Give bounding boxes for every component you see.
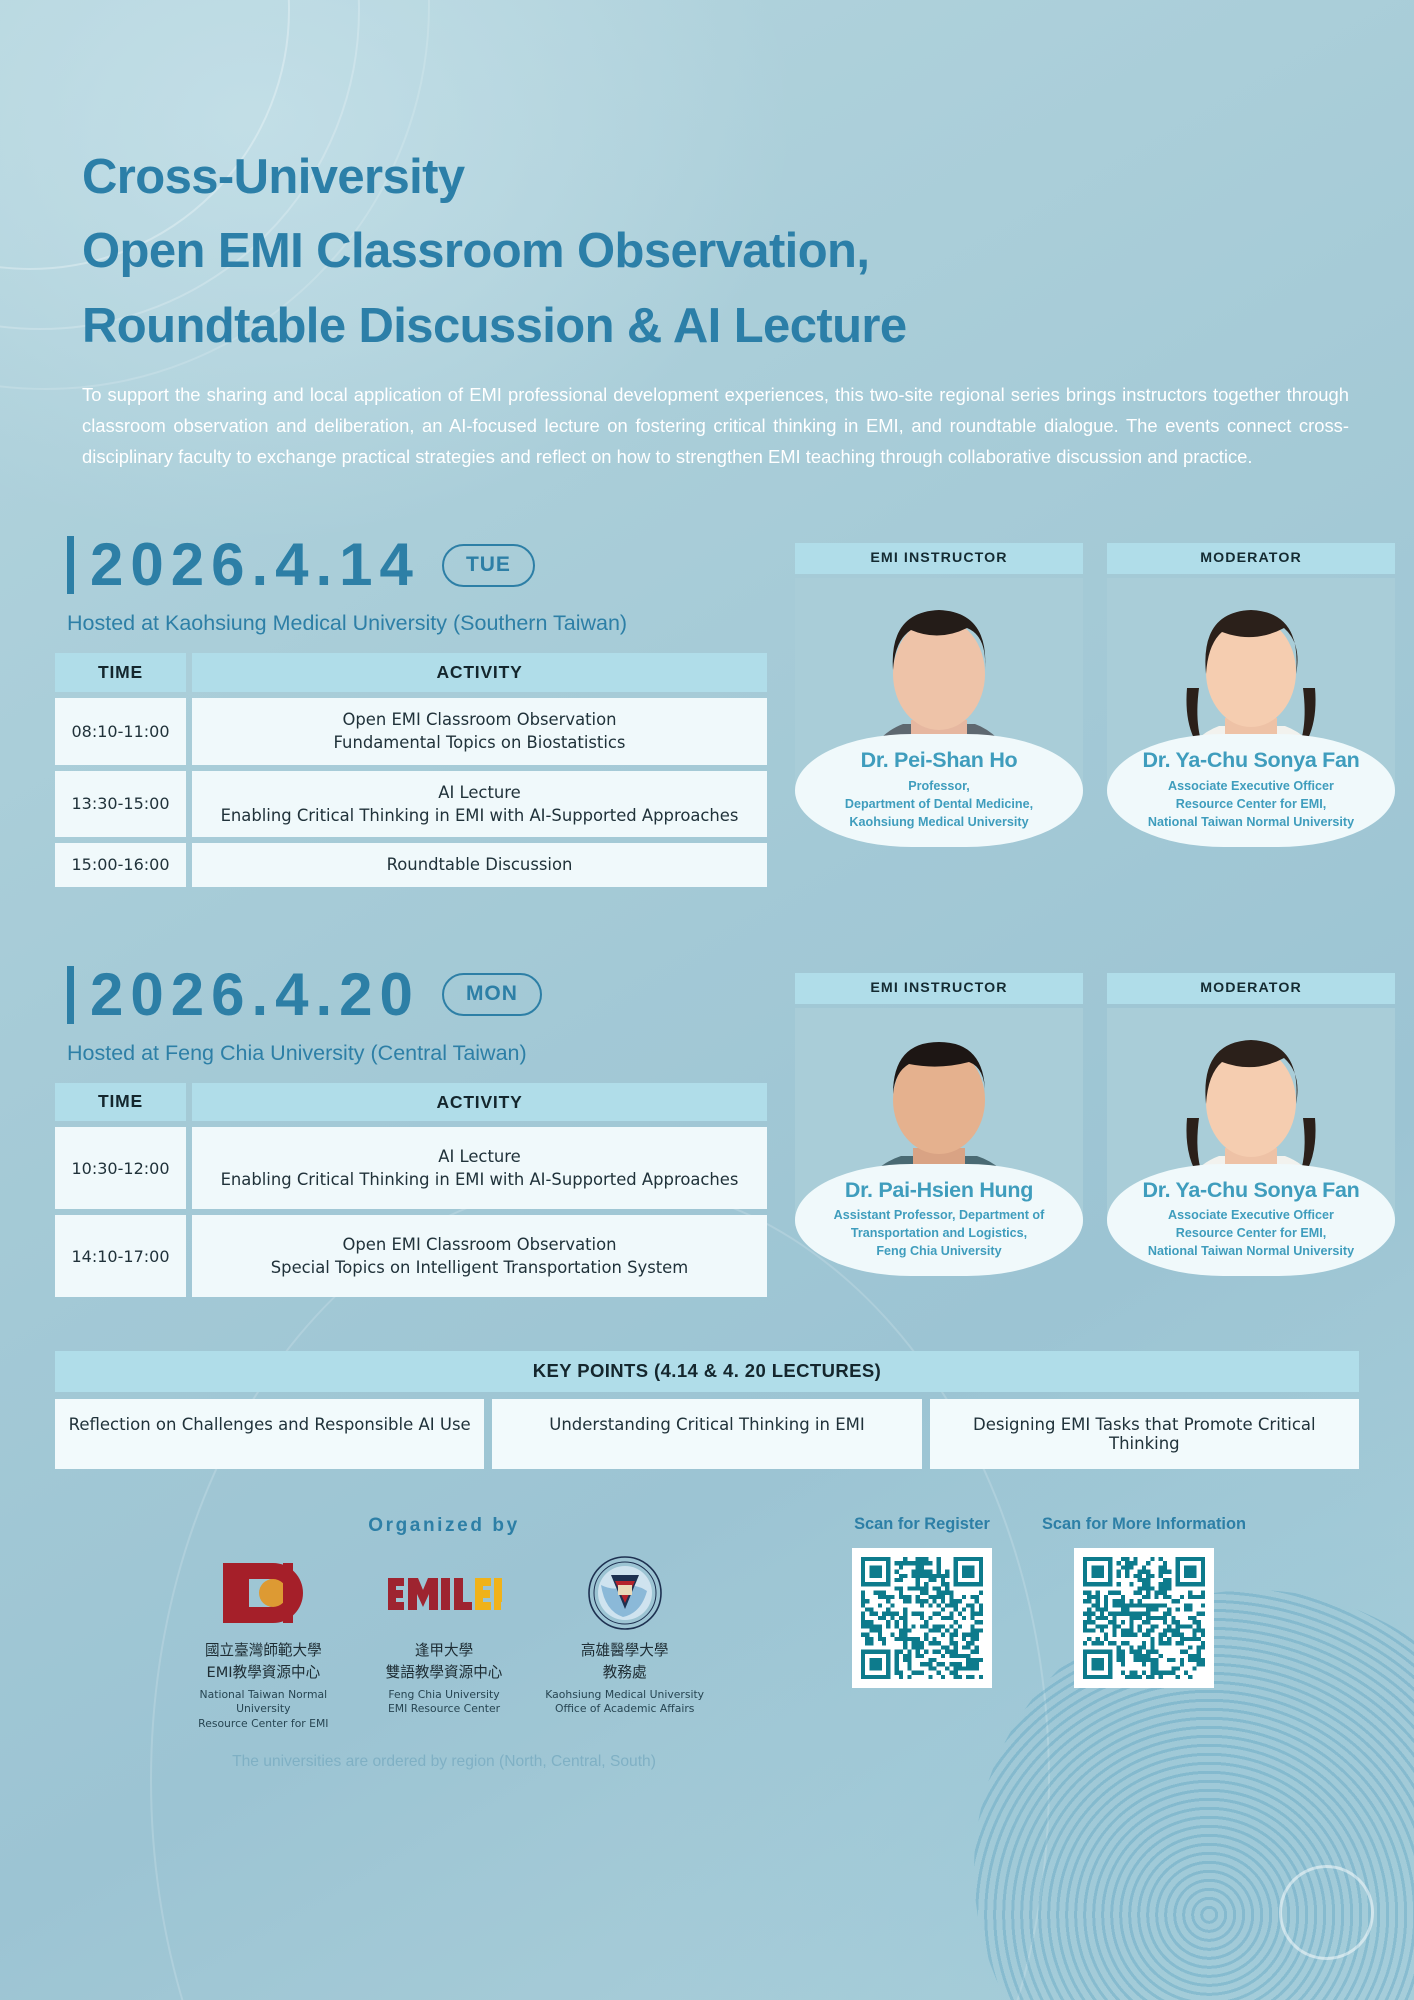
cell-time: 08:10-11:00 <box>55 698 186 765</box>
more-info-qr-caption: Scan for More Information <box>1042 1515 1246 1534</box>
organizer-name-zh: 高雄醫學大學教務處 <box>534 1640 715 1682</box>
rcemi-logo-icon <box>173 1551 354 1635</box>
cell-activity: Open EMI Classroom ObservationFundamenta… <box>192 698 767 765</box>
organizer-name-zh: 逢甲大學雙語教學資源中心 <box>354 1640 535 1682</box>
table-row: 10:30-12:00 AI LectureEnabling Critical … <box>55 1127 767 1209</box>
key-points-section: KEY POINTS (4.14 & 4. 20 LECTURES) Refle… <box>55 1351 1359 1469</box>
speaker-namecard: Dr. Ya-Chu Sonya Fan Associate Executive… <box>1107 1164 1395 1276</box>
register-qr-caption: Scan for Register <box>852 1515 992 1534</box>
cell-activity: Open EMI Classroom ObservationSpecial To… <box>192 1215 767 1297</box>
day-2-speakers: EMI INSTRUCTOR <box>795 973 1395 1276</box>
organizer-kmu: 高雄醫學大學教務處 Kaohsiung Medical UniversityOf… <box>534 1551 715 1731</box>
cell-activity: AI LectureEnabling Critical Thinking in … <box>192 1127 767 1209</box>
speaker-namecard: Dr. Pei-Shan Ho Professor,Department of … <box>795 734 1083 846</box>
day-1-weekday-badge: TUE <box>442 544 535 587</box>
organizer-fcu: 逢甲大學雙語教學資源中心 Feng Chia UniversityEMI Res… <box>354 1551 535 1731</box>
key-point-item: Understanding Critical Thinking in EMI <box>492 1399 921 1469</box>
organizer-name-zh: 國立臺灣師範大學EMI教學資源中心 <box>173 1640 354 1682</box>
decorative-circle <box>1279 1865 1374 1960</box>
table-header-row: TIME ACTIVITY <box>55 653 767 692</box>
day-2-weekday-badge: MON <box>442 973 542 1016</box>
column-header-activity: ACTIVITY <box>192 653 767 692</box>
organizer-name-en: Feng Chia UniversityEMI Resource Center <box>354 1688 535 1717</box>
organizer-logos-row: 國立臺灣師範大學EMI教學資源中心 National Taiwan Normal… <box>173 1551 715 1731</box>
register-qr-block[interactable]: Scan for Register <box>852 1515 992 1771</box>
more-info-qr-code[interactable] <box>1074 1548 1214 1688</box>
speaker-name: Dr. Ya-Chu Sonya Fan <box>1119 1178 1383 1203</box>
table-row: 13:30-15:00 AI LectureEnabling Critical … <box>55 771 767 838</box>
speaker-name: Dr. Ya-Chu Sonya Fan <box>1119 748 1383 773</box>
organizer-name-en: Kaohsiung Medical UniversityOffice of Ac… <box>534 1688 715 1717</box>
title-line-2: Open EMI Classroom Observation, <box>55 214 1359 288</box>
emirc-logo-icon <box>354 1551 535 1635</box>
cell-time: 14:10-17:00 <box>55 1215 186 1297</box>
speaker-namecard: Dr. Pai-Hsien Hung Assistant Professor, … <box>795 1164 1083 1276</box>
day-2-date: 2026.4.20 <box>90 965 420 1025</box>
table-row: 15:00-16:00 Roundtable Discussion <box>55 843 767 886</box>
speaker-name: Dr. Pei-Shan Ho <box>807 748 1071 773</box>
poster-canvas: Cross-University Open EMI Classroom Obse… <box>0 0 1414 2000</box>
intro-paragraph: To support the sharing and local applica… <box>55 380 1359 473</box>
speaker-name: Dr. Pai-Hsien Hung <box>807 1178 1071 1203</box>
speaker-role-badge: MODERATOR <box>1107 543 1395 574</box>
day-1-date: 2026.4.14 <box>90 535 420 595</box>
page-title: Cross-University Open EMI Classroom Obse… <box>55 0 1359 363</box>
accent-bar <box>67 966 74 1024</box>
speaker-affiliation: Assistant Professor, Department ofTransp… <box>807 1207 1071 1261</box>
speaker-card: EMI INSTRUCTOR <box>795 973 1083 1276</box>
organizers-block: Organized by 國立臺灣師範大學EMI教學資源中心 <box>55 1515 715 1771</box>
cell-time: 15:00-16:00 <box>55 843 186 886</box>
speaker-affiliation: Associate Executive OfficerResource Cent… <box>1119 778 1383 832</box>
speaker-card: EMI INSTRUCTOR <box>795 543 1083 846</box>
cell-time: 13:30-15:00 <box>55 771 186 838</box>
speaker-card: MODERATOR <box>1107 973 1395 1276</box>
speaker-affiliation: Associate Executive OfficerResource Cent… <box>1119 1207 1383 1261</box>
speaker-card: MODERATOR <box>1107 543 1395 846</box>
qr-codes-block: Scan for Register Scan for More Informat… <box>715 1515 1359 1771</box>
day-1-speakers: EMI INSTRUCTOR <box>795 543 1395 846</box>
speaker-role-badge: MODERATOR <box>1107 973 1395 1004</box>
region-order-note: The universities are ordered by region (… <box>173 1753 715 1771</box>
table-row: 08:10-11:00 Open EMI Classroom Observati… <box>55 698 767 765</box>
table-header-row: TIME ACTIVITY <box>55 1083 767 1122</box>
key-point-item: Reflection on Challenges and Responsible… <box>55 1399 484 1469</box>
column-header-time: TIME <box>55 653 186 692</box>
speaker-role-badge: EMI INSTRUCTOR <box>795 543 1083 574</box>
key-points-heading: KEY POINTS (4.14 & 4. 20 LECTURES) <box>55 1351 1359 1392</box>
day-1-schedule-table: TIME ACTIVITY 08:10-11:00 Open EMI Class… <box>55 653 767 886</box>
register-qr-code[interactable] <box>852 1548 992 1688</box>
key-points-row: Reflection on Challenges and Responsible… <box>55 1399 1359 1469</box>
cell-activity: Roundtable Discussion <box>192 843 767 886</box>
title-line-1: Cross-University <box>55 140 1359 214</box>
organized-by-label: Organized by <box>173 1515 715 1537</box>
day-section-1: 2026.4.14 TUE Hosted at Kaohsiung Medica… <box>55 535 1359 886</box>
organizer-ntnu: 國立臺灣師範大學EMI教學資源中心 National Taiwan Normal… <box>173 1551 354 1731</box>
day-2-schedule-table: TIME ACTIVITY 10:30-12:00 AI LectureEnab… <box>55 1083 767 1298</box>
column-header-time: TIME <box>55 1083 186 1122</box>
speaker-role-badge: EMI INSTRUCTOR <box>795 973 1083 1004</box>
accent-bar <box>67 536 74 594</box>
footer: Organized by 國立臺灣師範大學EMI教學資源中心 <box>55 1515 1359 1771</box>
speaker-namecard: Dr. Ya-Chu Sonya Fan Associate Executive… <box>1107 734 1395 846</box>
kmu-seal-logo-icon <box>534 1551 715 1635</box>
cell-time: 10:30-12:00 <box>55 1127 186 1209</box>
title-line-3: Roundtable Discussion & AI Lecture <box>55 289 1359 363</box>
key-point-item: Designing EMI Tasks that Promote Critica… <box>930 1399 1359 1469</box>
more-info-qr-block[interactable]: Scan for More Information <box>1042 1515 1246 1771</box>
column-header-activity: ACTIVITY <box>192 1083 767 1122</box>
speaker-affiliation: Professor,Department of Dental Medicine,… <box>807 778 1071 832</box>
cell-activity: AI LectureEnabling Critical Thinking in … <box>192 771 767 838</box>
table-row: 14:10-17:00 Open EMI Classroom Observati… <box>55 1215 767 1297</box>
day-section-2: 2026.4.20 MON Hosted at Feng Chia Univer… <box>55 965 1359 1298</box>
organizer-name-en: National Taiwan Normal UniversityResourc… <box>173 1688 354 1732</box>
